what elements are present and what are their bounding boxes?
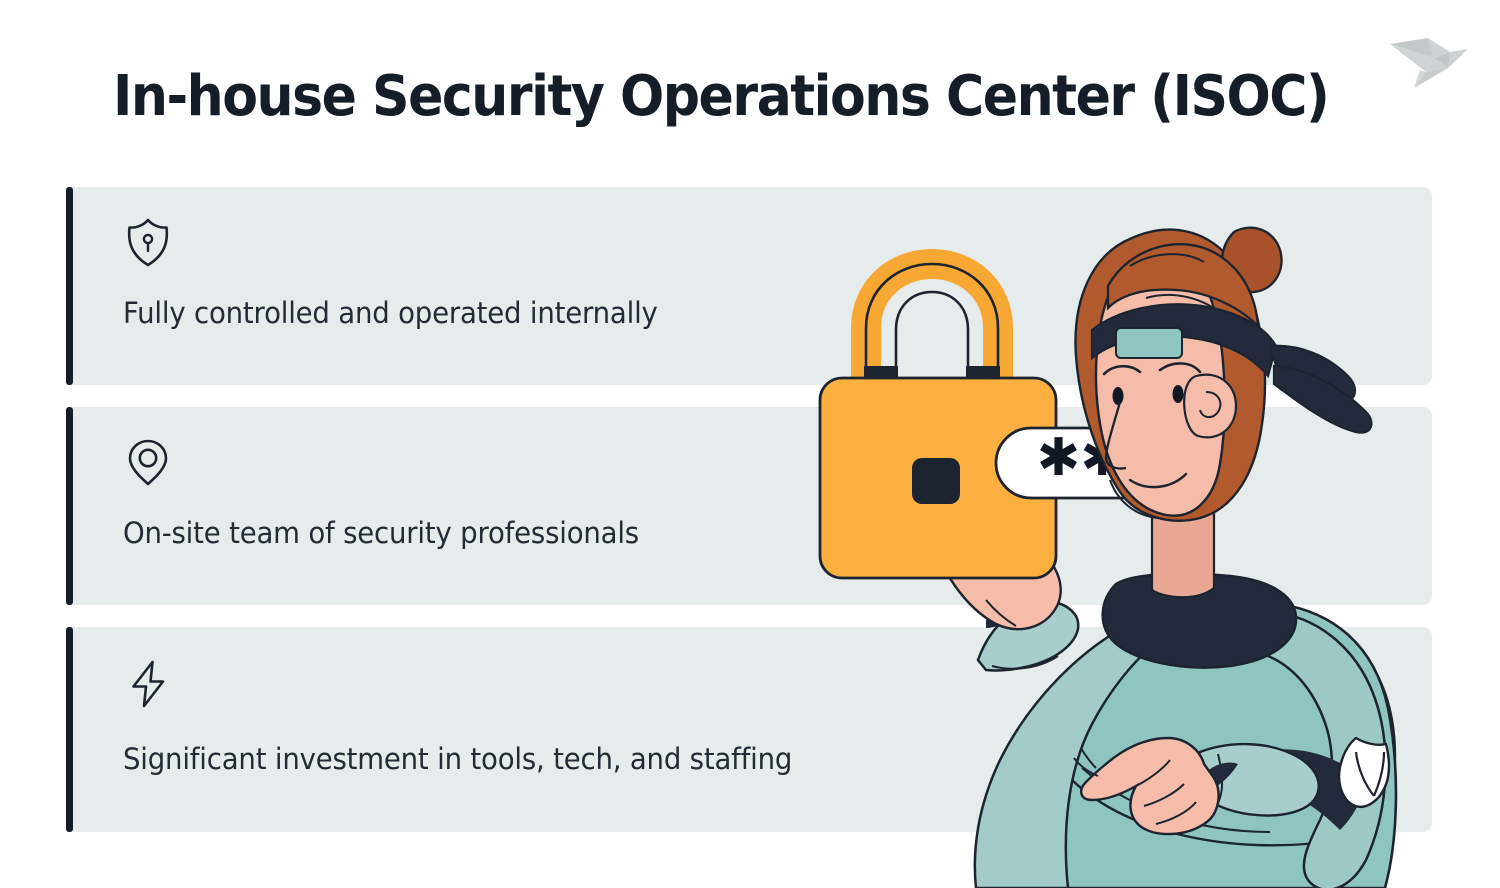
lightning-bolt-icon (121, 657, 175, 711)
feature-label-2: On-site team of security professionals (123, 516, 639, 550)
panel-accent-bar (66, 407, 73, 605)
panel-accent-bar (66, 187, 73, 385)
shield-keyhole-icon (121, 215, 175, 269)
poster-canvas: In-house Security Operations Center (ISO… (0, 0, 1500, 888)
panel-accent-bar (66, 627, 73, 832)
page-title: In-house Security Operations Center (ISO… (113, 64, 1328, 129)
feature-panel-3: Significant investment in tools, tech, a… (66, 627, 1432, 832)
feature-panel-1: Fully controlled and operated internally (66, 187, 1432, 385)
feature-label-3: Significant investment in tools, tech, a… (123, 742, 792, 776)
feature-label-1: Fully controlled and operated internally (123, 296, 658, 330)
origami-bird-logo (1388, 18, 1480, 90)
location-pin-icon (121, 435, 175, 489)
feature-panel-2: On-site team of security professionals (66, 407, 1432, 605)
